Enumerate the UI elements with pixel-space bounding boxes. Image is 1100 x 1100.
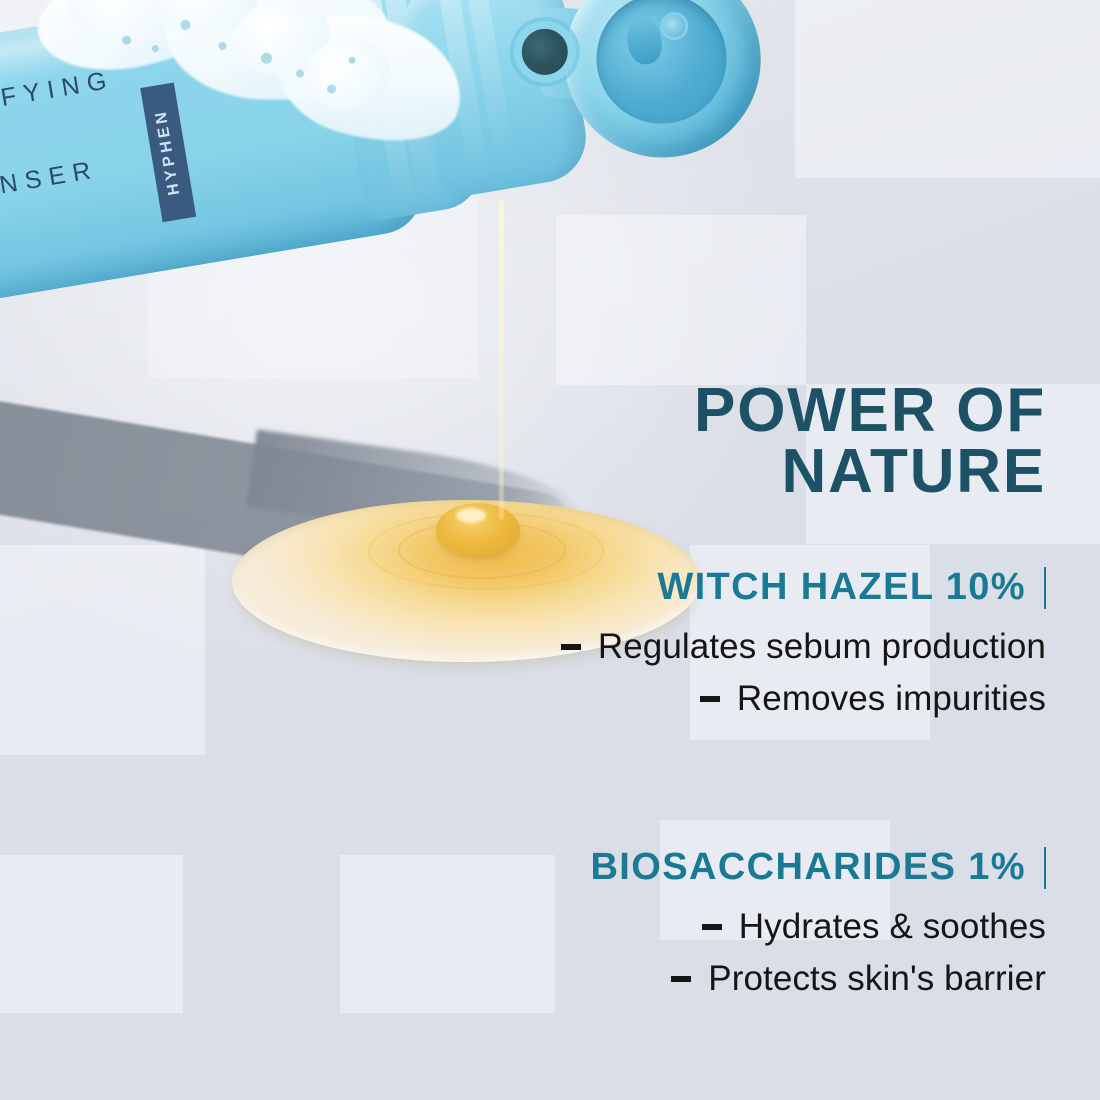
headline-line-2-text: NATURE [781,437,1046,506]
brand-label-text: HYPHEN [152,108,184,197]
dash-bullet-icon [702,924,722,930]
ingredient-block-witch-hazel: WITCH HAZEL 10% Regulates sebum producti… [406,566,1046,719]
benefit-text: Regulates sebum production [598,627,1046,667]
dash-bullet-icon [561,644,581,650]
ingredient-rule [1044,847,1046,889]
ingredient-title-row: BIOSACCHARIDES 1% [406,846,1046,889]
headline-line-1-text: POWER OF [694,376,1046,445]
product-infographic: CLARIFYING ACNE CLEANSER HYPHEN POWER OF [0,0,1100,1100]
ingredient-title: BIOSACCHARIDES 1% [590,846,1026,889]
headline: POWER OF NATURE [576,380,1046,503]
background-block [0,855,183,1013]
dash-bullet-icon [700,696,720,702]
background-block [795,0,1100,178]
benefit-item: Protects skin's barrier [671,959,1046,999]
benefit-text: Protects skin's barrier [708,959,1046,999]
ingredient-rule [1044,567,1046,609]
benefit-item: Hydrates & soothes [702,907,1046,947]
benefit-list: Hydrates & soothes Protects skin's barri… [406,907,1046,999]
ingredient-title-row: WITCH HAZEL 10% [406,566,1046,609]
benefit-list: Regulates sebum production Removes impur… [406,627,1046,719]
benefit-text: Hydrates & soothes [739,907,1046,947]
benefit-item: Regulates sebum production [561,627,1046,667]
benefit-item: Removes impurities [700,679,1046,719]
ingredient-block-biosaccharides: BIOSACCHARIDES 1% Hydrates & soothes Pro… [406,846,1046,999]
benefit-text: Removes impurities [737,679,1046,719]
oil-mound-highlight [456,508,486,523]
background-block [0,545,205,755]
dash-bullet-icon [671,976,691,982]
headline-line-1: POWER OF [694,380,1046,441]
flip-lid-inner [587,0,737,133]
headline-line-2: NATURE [781,441,1046,502]
ingredient-title: WITCH HAZEL 10% [657,566,1026,609]
